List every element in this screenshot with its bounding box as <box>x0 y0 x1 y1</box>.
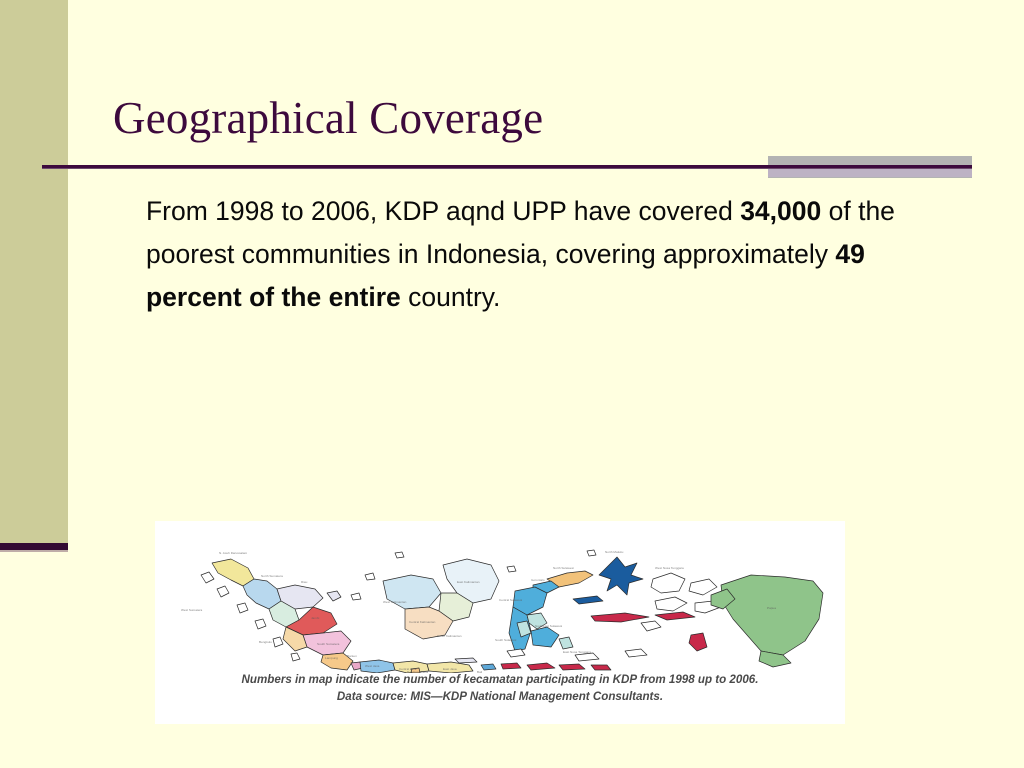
left-accent-band-foot-shadow <box>0 550 68 552</box>
svg-text:North Maluku: North Maluku <box>605 550 624 554</box>
map-figure-panel: N. Aceh Darussalam North Sumatera Riau W… <box>155 521 845 724</box>
svg-text:West Nusa Tenggara: West Nusa Tenggara <box>655 566 684 570</box>
svg-text:Central Kalimantan: Central Kalimantan <box>409 620 436 624</box>
svg-text:West Sumatera: West Sumatera <box>181 608 203 612</box>
svg-text:Papua: Papua <box>767 606 776 610</box>
svg-text:Riau: Riau <box>301 580 308 584</box>
svg-text:West Java: West Java <box>365 664 380 668</box>
svg-text:Lampung: Lampung <box>325 656 338 660</box>
indonesia-map-svg: N. Aceh Darussalam North Sumatera Riau W… <box>155 523 845 673</box>
svg-text:Southeast Sulawesi: Southeast Sulawesi <box>535 624 562 628</box>
svg-text:South Kalimantan: South Kalimantan <box>437 634 462 638</box>
svg-text:Bengkulu: Bengkulu <box>259 640 272 644</box>
svg-text:East Nusa Tenggara: East Nusa Tenggara <box>563 650 591 654</box>
svg-text:South Sumatera: South Sumatera <box>317 642 340 646</box>
page-title: Geographical Coverage <box>113 92 543 144</box>
body-line-3-rest: covering approximately <box>556 239 836 269</box>
map-caption-line-2: Data source: MIS—KDP National Management… <box>155 688 845 705</box>
svg-text:South Sulawesi: South Sulawesi <box>495 638 517 642</box>
map-caption: Numbers in map indicate the number of ke… <box>155 671 845 705</box>
svg-text:North Sulawesi: North Sulawesi <box>553 566 574 570</box>
left-accent-band-foot <box>0 543 68 550</box>
svg-text:N. Aceh Darussalam: N. Aceh Darussalam <box>219 551 248 555</box>
svg-text:East Kalimantan: East Kalimantan <box>457 580 480 584</box>
indonesia-map-image: N. Aceh Darussalam North Sumatera Riau W… <box>155 523 845 673</box>
body-line-1: From 1998 to 2006, KDP aqnd UPP have cov… <box>146 196 733 226</box>
svg-text:Gorontalo: Gorontalo <box>531 578 545 582</box>
svg-text:Jambi: Jambi <box>311 616 320 620</box>
svg-text:West Kalimantan: West Kalimantan <box>383 600 407 604</box>
map-caption-line-1: Numbers in map indicate the number of ke… <box>155 671 845 688</box>
body-line-4: country. <box>408 282 500 312</box>
svg-text:Banten: Banten <box>347 654 357 658</box>
body-emphasis-34000: 34,000 <box>740 196 821 226</box>
title-divider-hairline <box>42 168 972 169</box>
left-accent-band <box>0 0 68 543</box>
svg-text:Central Sulawesi: Central Sulawesi <box>499 598 523 602</box>
rule-gray-accent-inner <box>768 168 972 177</box>
svg-text:North Sumatera: North Sumatera <box>261 574 283 578</box>
body-paragraph: From 1998 to 2006, KDP aqnd UPP have cov… <box>146 190 936 319</box>
